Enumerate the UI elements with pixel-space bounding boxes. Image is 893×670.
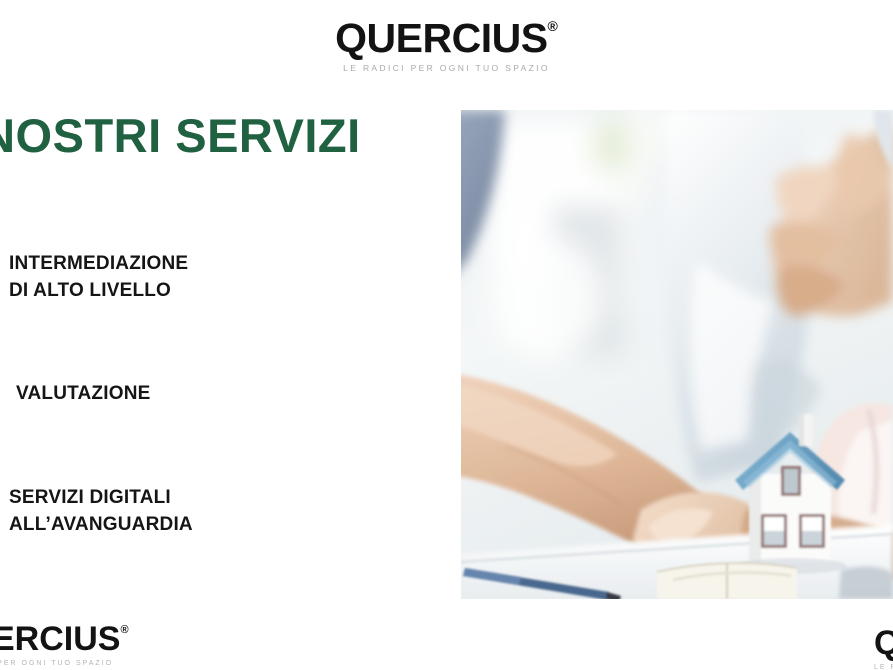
handshake-photo [461,110,893,599]
previous-slide-logo-text: QUERCIUS [0,620,120,658]
previous-slide-logo-tagline: LE RADICI PER OGNI TUO SPAZIO [0,660,129,667]
page-title: I NOSTRI SERVIZI [0,112,361,159]
next-slide-logo-tagline: LE RADICI PER OGNI TUO SPAZIO [874,664,893,670]
previous-slide-logo: QUERCIUS® LE RADICI PER OGNI TUO SPAZIO [0,622,129,667]
service-item-servizi-digitali: SERVIZI DIGITALI ALL’AVANGUARDIA [9,485,193,539]
registered-trademark-icon: ® [548,18,558,34]
slide-canvas: QUERCIUS® LE RADICI PER OGNI TUO SPAZIO … [0,0,893,670]
brand-logo-text: QUERCIUS [335,15,547,61]
brand-logo-wordmark: QUERCIUS® [335,18,558,59]
previous-slide-logo-wordmark: QUERCIUS® [0,622,129,656]
handshake-photo-illustration [461,110,893,599]
service-item-intermediazione: INTERMEDIAZIONE DI ALTO LIVELLO [9,251,188,305]
brand-logo: QUERCIUS® LE RADICI PER OGNI TUO SPAZIO [334,18,559,73]
registered-trademark-icon: ® [120,624,128,636]
next-slide-logo: QUERCIUS LE RADICI PER OGNI TUO SPAZIO [874,626,893,670]
brand-logo-tagline: LE RADICI PER OGNI TUO SPAZIO [334,64,559,73]
next-slide-logo-wordmark: QUERCIUS [874,626,893,660]
service-item-valutazione: VALUTAZIONE [16,381,151,408]
